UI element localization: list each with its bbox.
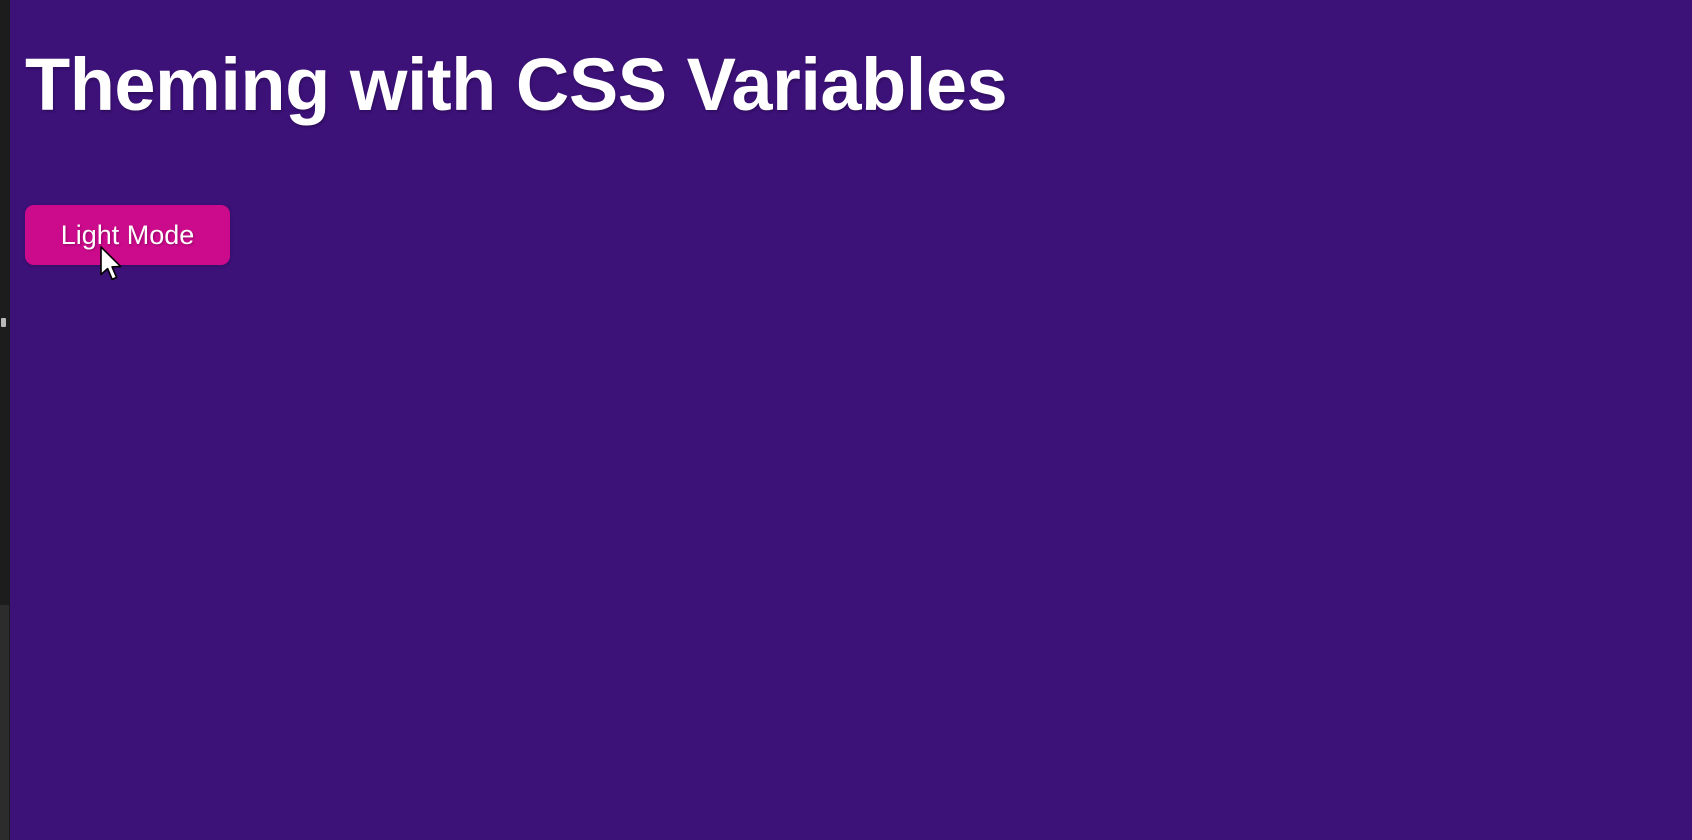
browser-viewport: Theming with CSS Variables Light Mode xyxy=(0,0,1692,840)
themed-page-surface: Theming with CSS Variables Light Mode xyxy=(11,0,1692,840)
scrollbar-marker[interactable] xyxy=(1,318,6,327)
theme-toggle-button[interactable]: Light Mode xyxy=(25,205,230,265)
window-edge-strip xyxy=(0,0,10,840)
window-edge-lower xyxy=(0,605,9,840)
page-title: Theming with CSS Variables xyxy=(25,44,1007,125)
theme-toggle-label: Light Mode xyxy=(61,222,195,249)
window-edge-upper xyxy=(0,0,9,605)
